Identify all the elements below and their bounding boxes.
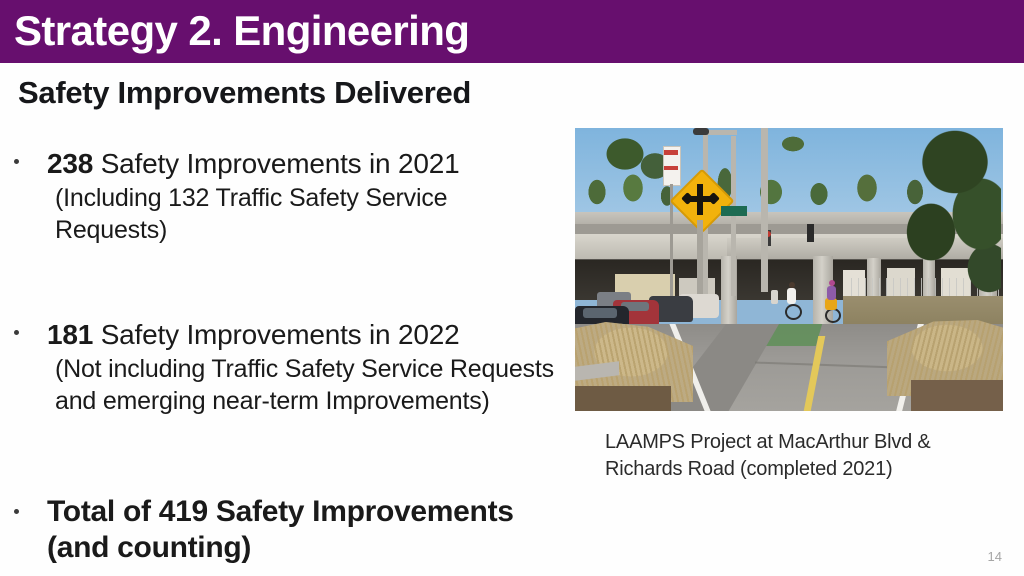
- project-photo: [575, 128, 1003, 411]
- bullet-dot-icon: [14, 330, 19, 335]
- slide: Strategy 2. Engineering Safety Improveme…: [0, 0, 1024, 576]
- slide-subtitle: Safety Improvements Delivered: [18, 74, 471, 112]
- bullet-item-2: 181 Safety Improvements in 2022 (Not inc…: [0, 317, 575, 417]
- bullet-item-2-body: 181 Safety Improvements in 2022 (Not inc…: [47, 317, 575, 417]
- bicycle: [825, 308, 841, 323]
- no-parking-sign-band: [664, 150, 678, 155]
- bullet-item-3: Total of 419 Safety Improvements (and co…: [0, 494, 575, 566]
- traffic-signal-icon: [807, 224, 814, 242]
- mulch-bed-left: [575, 386, 671, 411]
- mulch-bed-right: [911, 380, 1003, 411]
- page-number: 14: [988, 549, 1002, 564]
- photo-caption: LAAMPS Project at MacArthur Blvd & Richa…: [575, 429, 1003, 483]
- car-window: [583, 308, 617, 318]
- street-light-pole: [731, 136, 736, 296]
- bullet-item-1-lead: 238 Safety Improvements in 2021: [47, 146, 575, 182]
- crossing-sign-glyph: [697, 184, 703, 215]
- cyclist-one: [787, 288, 796, 304]
- bullet-item-1: 238 Safety Improvements in 2021 (Includi…: [0, 146, 575, 246]
- cyclist-one-head: [789, 282, 795, 288]
- project-photo-figure: LAAMPS Project at MacArthur Blvd & Richa…: [575, 128, 1003, 483]
- bullet-item-1-sub: (Including 132 Traffic Safety Service Re…: [47, 182, 555, 246]
- title-bar: Strategy 2. Engineering: [0, 0, 1024, 63]
- slide-title: Strategy 2. Engineering: [14, 6, 469, 56]
- palm-tree: [771, 130, 815, 170]
- bullet-item-1-lead-text: Safety Improvements in 2021: [93, 148, 459, 179]
- street-name-sign: [721, 206, 747, 216]
- street-light-pole: [761, 128, 768, 292]
- bullet-item-2-lead-text: Safety Improvements in 2022: [93, 319, 459, 350]
- cyclist-two: [827, 286, 836, 300]
- bullet-item-3-body: Total of 419 Safety Improvements (and co…: [47, 494, 575, 566]
- pedestrian: [771, 290, 778, 304]
- sign-post: [697, 220, 703, 304]
- tree-right: [881, 128, 1001, 298]
- bullet-item-2-lead: 181 Safety Improvements in 2022: [47, 317, 575, 353]
- street-lamp-head: [693, 128, 709, 135]
- no-parking-sign-band: [664, 166, 678, 170]
- bullet-item-1-body: 238 Safety Improvements in 2021 (Includi…: [47, 146, 575, 246]
- bullet-dot-icon: [14, 159, 19, 164]
- bullet-item-2-sub: (Not including Traffic Safety Service Re…: [47, 353, 555, 417]
- bicycle: [785, 304, 802, 320]
- bullet-item-1-count: 238: [47, 148, 93, 179]
- bullet-dot-icon: [14, 509, 19, 514]
- bullet-item-2-count: 181: [47, 319, 93, 350]
- cyclist-two-head: [829, 280, 835, 286]
- bullet-item-3-total: Total of 419 Safety Improvements (and co…: [47, 494, 575, 566]
